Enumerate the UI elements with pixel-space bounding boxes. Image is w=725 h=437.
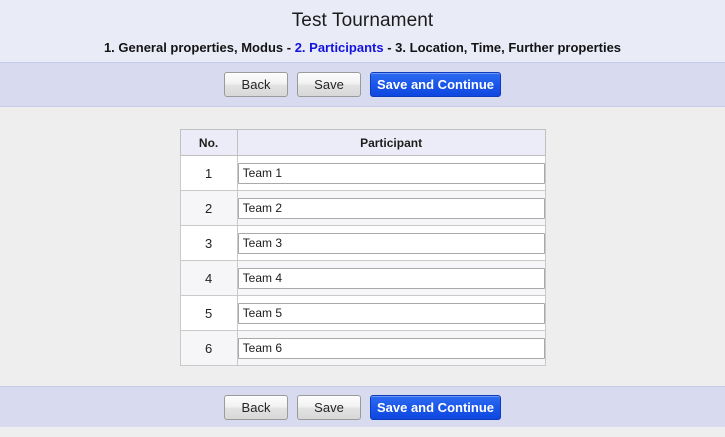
participant-name-input[interactable] xyxy=(238,268,545,289)
column-header-no: No. xyxy=(180,130,237,156)
participant-name-cell xyxy=(237,156,545,191)
breadcrumb: 1. General properties, Modus - 2. Partic… xyxy=(0,40,725,56)
table-row: 6 xyxy=(180,331,545,366)
participant-number-cell: 4 xyxy=(180,261,237,296)
toolbar-top: Back Save Save and Continue xyxy=(0,62,725,107)
breadcrumb-step-2-current[interactable]: 2. Participants xyxy=(295,40,384,55)
participant-number-cell: 1 xyxy=(180,156,237,191)
participant-name-input[interactable] xyxy=(238,233,545,254)
table-row: 2 xyxy=(180,191,545,226)
participant-name-input[interactable] xyxy=(238,163,545,184)
table-body: 123456 xyxy=(180,156,545,366)
save-button-top[interactable]: Save xyxy=(297,72,361,97)
back-button-bottom[interactable]: Back xyxy=(224,395,288,420)
page-header: Test Tournament 1. General properties, M… xyxy=(0,0,725,62)
participant-number-cell: 2 xyxy=(180,191,237,226)
participant-number-cell: 6 xyxy=(180,331,237,366)
save-and-continue-button-top[interactable]: Save and Continue xyxy=(370,72,501,97)
breadcrumb-separator-2: - xyxy=(387,40,391,55)
participants-table: No. Participant 123456 xyxy=(180,129,546,366)
table-row: 4 xyxy=(180,261,545,296)
participant-name-input[interactable] xyxy=(238,338,545,359)
breadcrumb-separator-1: - xyxy=(287,40,291,55)
participant-name-cell xyxy=(237,191,545,226)
participant-name-cell xyxy=(237,331,545,366)
save-button-bottom[interactable]: Save xyxy=(297,395,361,420)
save-and-continue-button-bottom[interactable]: Save and Continue xyxy=(370,395,501,420)
table-row: 1 xyxy=(180,156,545,191)
column-header-participant: Participant xyxy=(237,130,545,156)
breadcrumb-step-1[interactable]: 1. General properties, Modus xyxy=(104,40,283,55)
toolbar-bottom: Back Save Save and Continue xyxy=(0,386,725,427)
participant-name-cell xyxy=(237,226,545,261)
participant-name-input[interactable] xyxy=(238,198,545,219)
participant-name-input[interactable] xyxy=(238,303,545,324)
main-content: No. Participant 123456 xyxy=(0,107,725,386)
back-button-top[interactable]: Back xyxy=(224,72,288,97)
table-header-row: No. Participant xyxy=(180,130,545,156)
table-row: 3 xyxy=(180,226,545,261)
participant-name-cell xyxy=(237,296,545,331)
participant-number-cell: 3 xyxy=(180,226,237,261)
breadcrumb-step-3[interactable]: 3. Location, Time, Further properties xyxy=(395,40,621,55)
participant-number-cell: 5 xyxy=(180,296,237,331)
participant-name-cell xyxy=(237,261,545,296)
table-row: 5 xyxy=(180,296,545,331)
page-title: Test Tournament xyxy=(0,9,725,33)
